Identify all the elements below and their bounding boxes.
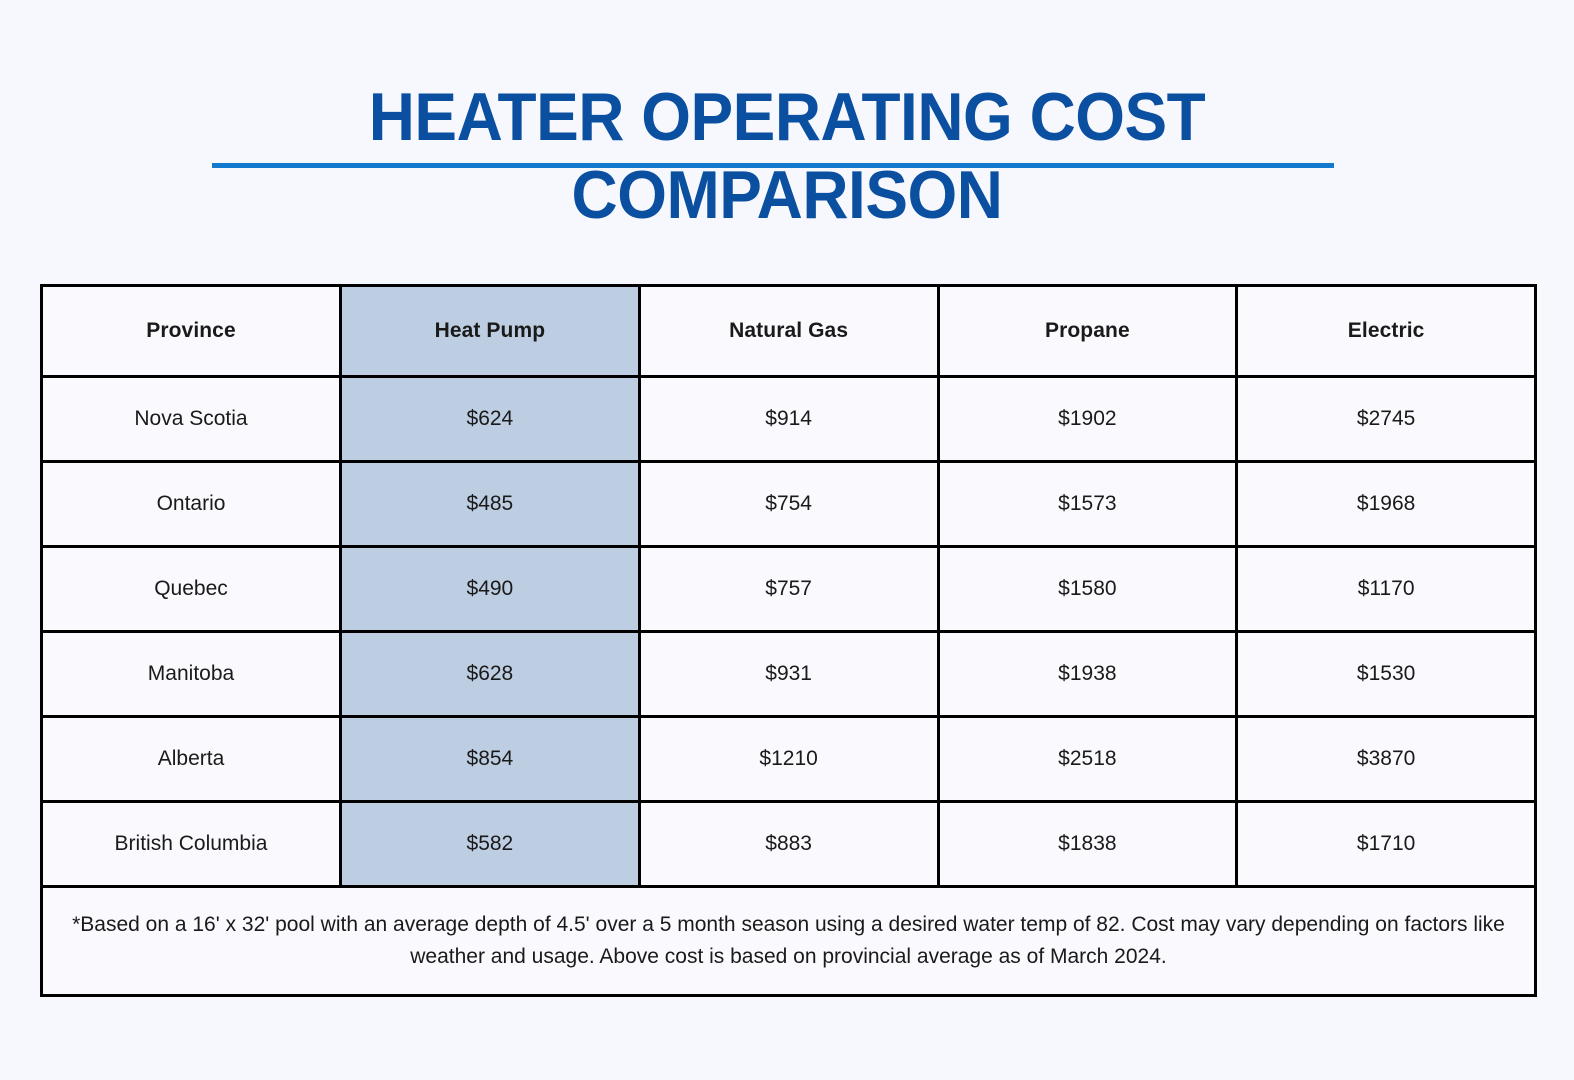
column-header-province: Province	[42, 286, 341, 377]
table-row: British Columbia $582 $883 $1838 $1710	[42, 802, 1536, 887]
cell-electric: $1968	[1237, 462, 1536, 547]
column-header-heat-pump: Heat Pump	[341, 286, 640, 377]
cell-natural-gas: $757	[639, 547, 938, 632]
cell-propane: $1838	[938, 802, 1237, 887]
table-row: Alberta $854 $1210 $2518 $3870	[42, 717, 1536, 802]
cell-heat-pump: $628	[341, 632, 640, 717]
cell-province: Alberta	[42, 717, 341, 802]
cell-electric: $1710	[1237, 802, 1536, 887]
column-header-propane: Propane	[938, 286, 1237, 377]
cell-heat-pump: $624	[341, 377, 640, 462]
table-body: Nova Scotia $624 $914 $1902 $2745 Ontari…	[42, 377, 1536, 996]
table-row: Quebec $490 $757 $1580 $1170	[42, 547, 1536, 632]
cost-comparison-table-container: Province Heat Pump Natural Gas Propane E…	[40, 284, 1534, 997]
cell-propane: $1580	[938, 547, 1237, 632]
table-row: Nova Scotia $624 $914 $1902 $2745	[42, 377, 1536, 462]
cell-propane: $1902	[938, 377, 1237, 462]
page-title-line-1: HEATER OPERATING COST	[47, 78, 1527, 156]
page-title: HEATER OPERATING COST COMPARISON	[0, 78, 1574, 234]
cell-propane: $2518	[938, 717, 1237, 802]
cell-heat-pump: $854	[341, 717, 640, 802]
cell-province: British Columbia	[42, 802, 341, 887]
cell-heat-pump: $582	[341, 802, 640, 887]
column-header-electric: Electric	[1237, 286, 1536, 377]
cell-natural-gas: $883	[639, 802, 938, 887]
table-row: Ontario $485 $754 $1573 $1968	[42, 462, 1536, 547]
cell-natural-gas: $931	[639, 632, 938, 717]
table-header: Province Heat Pump Natural Gas Propane E…	[42, 286, 1536, 377]
cell-propane: $1573	[938, 462, 1237, 547]
cell-province: Quebec	[42, 547, 341, 632]
cell-electric: $1530	[1237, 632, 1536, 717]
cell-province: Manitoba	[42, 632, 341, 717]
cell-province: Ontario	[42, 462, 341, 547]
cost-comparison-table: Province Heat Pump Natural Gas Propane E…	[40, 284, 1537, 997]
poster-page: HEATER OPERATING COST COMPARISON Provinc…	[0, 0, 1574, 1080]
cell-natural-gas: $914	[639, 377, 938, 462]
cell-natural-gas: $1210	[639, 717, 938, 802]
cell-heat-pump: $485	[341, 462, 640, 547]
cell-electric: $1170	[1237, 547, 1536, 632]
cell-electric: $2745	[1237, 377, 1536, 462]
table-row: Manitoba $628 $931 $1938 $1530	[42, 632, 1536, 717]
table-footnote-row: *Based on a 16' x 32' pool with an avera…	[42, 887, 1536, 996]
page-title-line-2: COMPARISON	[47, 156, 1527, 234]
footnote-text: *Based on a 16' x 32' pool with an avera…	[43, 909, 1534, 973]
cell-province: Nova Scotia	[42, 377, 341, 462]
cell-heat-pump: $490	[341, 547, 640, 632]
cell-propane: $1938	[938, 632, 1237, 717]
cell-electric: $3870	[1237, 717, 1536, 802]
table-header-row: Province Heat Pump Natural Gas Propane E…	[42, 286, 1536, 377]
cell-natural-gas: $754	[639, 462, 938, 547]
table-footnote-cell: *Based on a 16' x 32' pool with an avera…	[42, 887, 1536, 996]
column-header-natural-gas: Natural Gas	[639, 286, 938, 377]
